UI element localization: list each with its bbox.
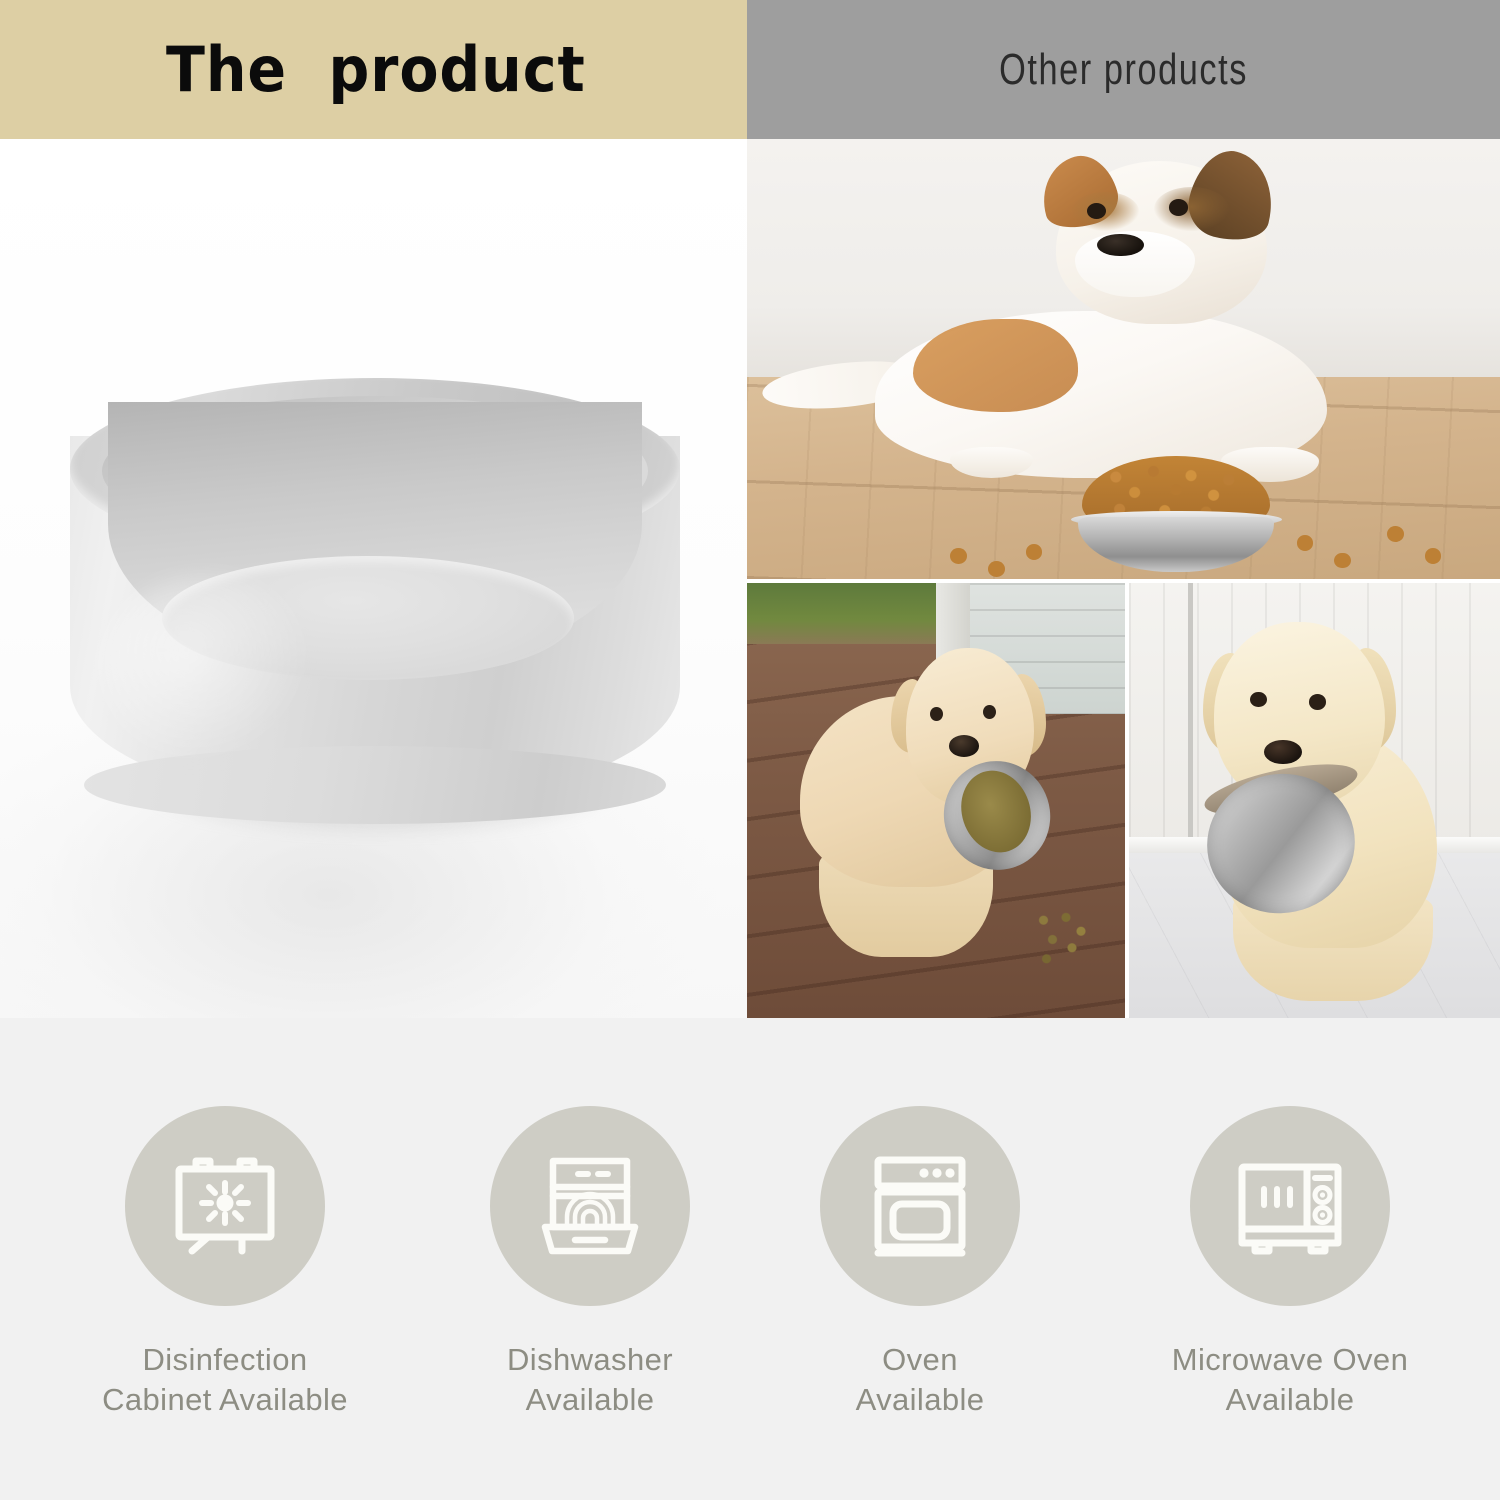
photo3-puppy-eye-left: [1250, 692, 1267, 708]
feature-dishwasher: Dishwasher Available: [440, 1106, 740, 1421]
feature-label: Dishwasher Available: [507, 1340, 673, 1421]
photo1-kibble-piece: [1026, 544, 1043, 560]
product-infographic: The product Other products: [0, 0, 1500, 1500]
photo1-kibble-piece: [1425, 548, 1442, 564]
photo1-dog-brow-right: [1154, 187, 1229, 231]
bowl-highlight: [102, 574, 312, 764]
photo2-lawn: [747, 583, 966, 644]
product-image-pane: [0, 139, 747, 1018]
feature-label: Disinfection Cabinet Available: [102, 1340, 348, 1421]
feature-icon-circle: [820, 1106, 1020, 1306]
oven-icon: [861, 1147, 979, 1265]
gallery-photo-terrier-with-kibble-bowl: [747, 139, 1500, 579]
gallery-photo-golden-puppy-carrying-bowl: [747, 583, 1125, 1018]
photo1-kibble-piece: [988, 561, 1005, 577]
photo3-door-edge: [1188, 583, 1192, 853]
photo2-spilled-kibble: [1027, 905, 1103, 975]
microwave-oven-icon: [1231, 1147, 1349, 1265]
dishwasher-icon: [531, 1147, 649, 1265]
feature-disinfection-cabinet: Disinfection Cabinet Available: [75, 1106, 375, 1421]
other-products-gallery: [747, 139, 1500, 1018]
photo1-dog-eye-right: [1169, 199, 1189, 216]
photo3-puppy-eye-right: [1309, 694, 1326, 710]
photo1-dog-nose: [1097, 234, 1144, 257]
feature-strip: Disinfection Cabinet Available: [0, 1018, 1500, 1500]
feature-label: Oven Available: [856, 1340, 985, 1421]
header-right-other-products: Other products: [747, 0, 1500, 139]
feature-oven: Oven Available: [770, 1106, 1070, 1421]
photo1-kibble-piece: [1297, 535, 1314, 551]
gallery-photo-labrador-puppy-carrying-bowl: [1129, 583, 1500, 1018]
photo1-kibble-piece: [950, 548, 967, 564]
photo1-kibble-piece: [1334, 553, 1351, 569]
feature-label: Microwave Oven Available: [1172, 1340, 1408, 1421]
ceramic-pet-bowl-image: [62, 374, 687, 864]
header-right-title: Other products: [999, 45, 1248, 95]
feature-icon-circle: [125, 1106, 325, 1306]
photo1-dog-eye-left: [1087, 203, 1106, 219]
feature-icon-circle: [1190, 1106, 1390, 1306]
feature-microwave-oven: Microwave Oven Available: [1140, 1106, 1440, 1421]
photo3-puppy-nose: [1264, 740, 1301, 764]
photo2-puppy-eye-left: [930, 707, 943, 721]
photo1-kibble-piece: [1387, 526, 1404, 542]
disinfection-cabinet-icon: [166, 1147, 284, 1265]
header-left-title: The product: [161, 33, 586, 106]
feature-icon-circle: [490, 1106, 690, 1306]
photo2-puppy-eye-right: [983, 705, 996, 719]
header-left-product: The product: [0, 0, 747, 139]
